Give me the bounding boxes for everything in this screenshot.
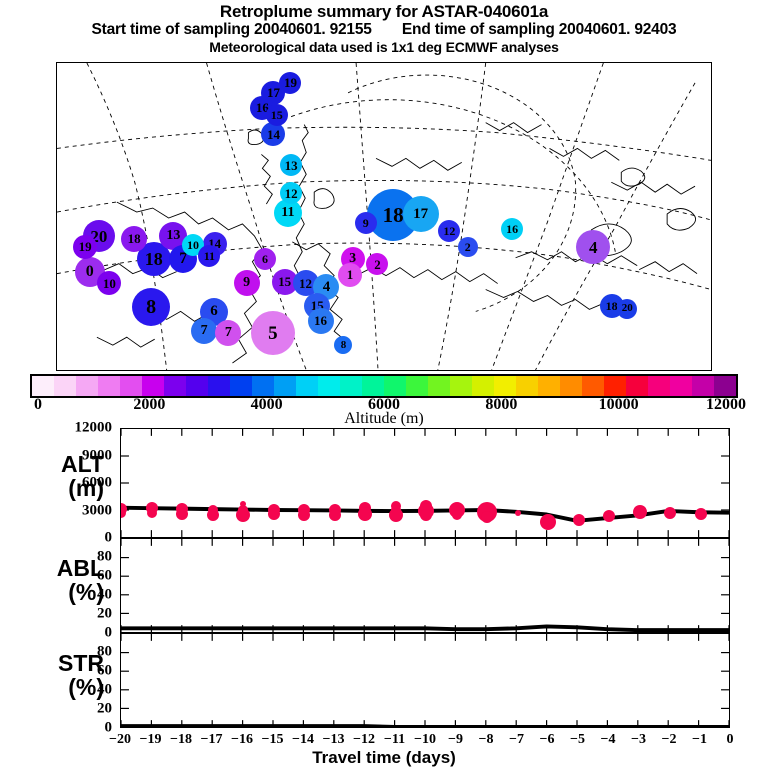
- page-title: Retroplume summary for ASTAR-040601a: [0, 0, 768, 21]
- map-marker-label: 12: [299, 277, 312, 290]
- colorbar-segment: [428, 376, 450, 396]
- x-tick-label: −8: [479, 732, 494, 748]
- map-marker-label: 9: [363, 217, 369, 229]
- map-marker[interactable]: 4: [576, 230, 610, 264]
- scatter-dot: [207, 509, 219, 521]
- map-marker-label: 18: [145, 250, 163, 268]
- map-marker[interactable]: 17: [403, 196, 439, 232]
- map-marker[interactable]: 8: [334, 336, 352, 354]
- colorbar-segment: [54, 376, 76, 396]
- colorbar-segment: [230, 376, 252, 396]
- map-marker-label: 18: [383, 205, 404, 226]
- map-marker-label: 16: [506, 223, 518, 235]
- map-marker[interactable]: 10: [97, 271, 121, 295]
- map-marker-label: 19: [284, 76, 297, 89]
- map-marker[interactable]: 16: [308, 308, 334, 334]
- colorbar-segment: [362, 376, 384, 396]
- map-marker-label: 4: [589, 239, 598, 256]
- x-tick-label: −1: [692, 732, 707, 748]
- start-time-label: Start time of sampling 20040601. 92155: [92, 21, 372, 38]
- colorbar-segment: [296, 376, 318, 396]
- x-tick-label: −4: [601, 732, 616, 748]
- scatter-dot: [389, 508, 403, 522]
- scatter-dot: [420, 509, 432, 521]
- y-tick-label: 20: [97, 701, 112, 718]
- map-marker-label: 2: [374, 258, 381, 271]
- map-marker-label: 8: [146, 297, 156, 317]
- sampling-time-line: Start time of sampling 20040601. 92155 E…: [0, 21, 768, 39]
- map-marker-label: 7: [201, 324, 208, 338]
- met-data-note: Meteorological data used is 1x1 deg ECMW…: [0, 39, 768, 56]
- colorbar-segment: [648, 376, 670, 396]
- colorbar-segment: [626, 376, 648, 396]
- colorbar-segment: [516, 376, 538, 396]
- map-marker-label: 15: [271, 109, 283, 121]
- scatter-dot: [358, 507, 372, 521]
- scatter-dot: [236, 508, 250, 522]
- series-polyline: [121, 726, 729, 727]
- x-tick-label: −15: [262, 732, 284, 748]
- colorbar-segment: [472, 376, 494, 396]
- x-tick-label: −2: [662, 732, 677, 748]
- ytick-labels-alt: 030006000900012000: [0, 428, 116, 538]
- colorbar-segment: [186, 376, 208, 396]
- y-tick-label: 60: [97, 663, 112, 680]
- map-marker[interactable]: 12: [280, 182, 302, 204]
- panel-altitude[interactable]: [120, 428, 730, 538]
- timeseries-stack: ALT (m) ABL (%) STR (%) 0300060009000120…: [0, 428, 768, 728]
- y-tick-label: 6000: [82, 475, 112, 492]
- x-tick-label: −6: [540, 732, 555, 748]
- colorbar-segment: [164, 376, 186, 396]
- x-tick-label: −16: [231, 732, 253, 748]
- map-marker[interactable]: 19: [279, 72, 301, 94]
- colorbar-segment: [538, 376, 560, 396]
- x-tick-label: −19: [140, 732, 162, 748]
- map-marker[interactable]: 15: [266, 104, 288, 126]
- map-marker[interactable]: 14: [261, 122, 285, 146]
- map-marker-label: 19: [79, 240, 92, 253]
- x-tick-label: −9: [448, 732, 463, 748]
- map-marker[interactable]: 5: [251, 311, 295, 355]
- map-marker-label: 20: [622, 303, 633, 314]
- y-tick-label: 80: [97, 644, 112, 661]
- scatter-dot: [268, 508, 280, 520]
- map-marker-label: 17: [413, 207, 428, 222]
- scatter-dot: [298, 509, 310, 521]
- scatter-dot: [147, 508, 157, 518]
- map-marker-label: 1: [347, 268, 354, 281]
- x-tick-label: −14: [292, 732, 314, 748]
- map-marker-label: 4: [323, 280, 331, 295]
- y-tick-label: 20: [97, 606, 112, 623]
- scatter-dot: [603, 510, 615, 522]
- colorbar-segment: [76, 376, 98, 396]
- map-marker-label: 0: [86, 264, 94, 280]
- map-marker[interactable]: 2: [366, 253, 388, 275]
- colorbar-segment: [32, 376, 54, 396]
- map-marker-label: 6: [210, 304, 218, 319]
- colorbar-segment: [670, 376, 692, 396]
- scatter-dot: [540, 514, 556, 530]
- x-tick-label: −13: [323, 732, 345, 748]
- scatter-dot: [329, 509, 341, 521]
- map-marker-label: 16: [314, 314, 327, 327]
- x-tick-label: −11: [384, 732, 405, 748]
- map-marker[interactable]: 9: [355, 212, 377, 234]
- map-marker[interactable]: 9: [234, 270, 260, 296]
- map-marker-label: 12: [443, 225, 455, 237]
- altitude-colorbar[interactable]: [30, 374, 738, 398]
- colorbar-segment: [142, 376, 164, 396]
- map-marker[interactable]: 6: [254, 248, 276, 270]
- map-marker[interactable]: 8: [132, 288, 170, 326]
- colorbar-segment: [340, 376, 362, 396]
- map-marker[interactable]: 7: [191, 318, 217, 344]
- colorbar-segment: [274, 376, 296, 396]
- xaxis-title: Travel time (days): [0, 748, 768, 768]
- scatter-dot: [695, 508, 707, 520]
- map-marker[interactable]: 19: [73, 235, 97, 259]
- map-marker-label: 7: [225, 326, 232, 340]
- str-line: [121, 634, 729, 727]
- map-marker-label: 8: [341, 340, 347, 351]
- colorbar-title: Altitude (m): [0, 410, 768, 428]
- map-marker-label: 5: [268, 324, 278, 343]
- colorbar-segment: [318, 376, 340, 396]
- y-tick-label: 3000: [82, 502, 112, 519]
- x-tick-label: 0: [727, 732, 734, 748]
- colorbar-segment: [406, 376, 428, 396]
- x-tick-label: −7: [509, 732, 524, 748]
- colorbar-segment: [252, 376, 274, 396]
- map-marker-label: 11: [204, 250, 215, 262]
- map-marker-label: 10: [187, 239, 199, 251]
- abl-line: [121, 539, 729, 632]
- scatter-dot: [481, 511, 493, 523]
- map-marker[interactable]: 1: [338, 263, 362, 287]
- map-marker-label: 15: [278, 275, 291, 288]
- map-marker-label: 6: [262, 253, 268, 265]
- map-marker-label: 12: [285, 187, 298, 200]
- scatter-dot: [664, 507, 676, 519]
- map-marker-label: 18: [128, 232, 141, 245]
- map-marker[interactable]: 7: [215, 320, 241, 346]
- xaxis-tick-labels: −20−19−18−17−16−15−14−13−12−11−10−9−8−7−…: [0, 732, 768, 748]
- colorbar-segment: [450, 376, 472, 396]
- x-tick-label: −18: [170, 732, 192, 748]
- x-tick-label: −10: [414, 732, 436, 748]
- colorbar-segment: [494, 376, 516, 396]
- x-tick-label: −20: [109, 732, 131, 748]
- colorbar-segment: [384, 376, 406, 396]
- scatter-dot: [633, 505, 647, 519]
- x-tick-label: −12: [353, 732, 375, 748]
- y-tick-label: 60: [97, 568, 112, 585]
- panel-str[interactable]: [120, 633, 730, 728]
- x-tick-label: −17: [201, 732, 223, 748]
- ytick-labels-str: 020406080100: [0, 633, 116, 728]
- x-tick-label: −3: [631, 732, 646, 748]
- y-tick-label: 80: [97, 549, 112, 566]
- trajectory-markers: 1917161514131211181716201918131014111870…: [57, 63, 711, 370]
- x-tick-label: −5: [570, 732, 585, 748]
- scatter-dot: [573, 514, 585, 526]
- map-marker[interactable]: 20: [617, 299, 637, 319]
- ytick-labels-abl: 020406080100: [0, 538, 116, 633]
- y-tick-label: 40: [97, 682, 112, 699]
- colorbar-segment: [560, 376, 582, 396]
- map-marker-label: 13: [166, 229, 180, 243]
- scatter-dot: [452, 510, 462, 520]
- colorbar-segment: [120, 376, 142, 396]
- map-marker-label: 2: [465, 241, 471, 253]
- map-marker-label: 10: [103, 277, 116, 290]
- y-tick-label: 12000: [75, 420, 113, 437]
- y-tick-label: 40: [97, 587, 112, 604]
- map-marker[interactable]: 12: [438, 220, 460, 242]
- colorbar-segment: [714, 376, 736, 396]
- map-marker[interactable]: 13: [280, 154, 302, 176]
- colorbar-segment: [98, 376, 120, 396]
- end-time-label: End time of sampling 20040601. 92403: [402, 21, 677, 38]
- panel-abl[interactable]: [120, 538, 730, 633]
- map-marker-label: 9: [243, 276, 250, 290]
- map-marker[interactable]: 2: [458, 237, 478, 257]
- map-marker-label: 14: [267, 128, 280, 141]
- colorbar-segment: [692, 376, 714, 396]
- colorbar-segment: [208, 376, 230, 396]
- alt-median-line: [121, 429, 729, 537]
- map-marker-label: 13: [285, 159, 298, 172]
- colorbar-segment: [604, 376, 626, 396]
- figure-titles: Retroplume summary for ASTAR-040601a Sta…: [0, 0, 768, 56]
- scatter-dot: [515, 510, 521, 516]
- map-marker[interactable]: 16: [501, 218, 523, 240]
- colorbar-segment: [582, 376, 604, 396]
- map-marker[interactable]: 18: [121, 226, 147, 252]
- retroplume-map[interactable]: 1917161514131211181716201918131014111870…: [56, 62, 712, 371]
- map-marker-label: 11: [281, 206, 294, 220]
- map-marker-label: 18: [606, 300, 618, 312]
- scatter-dot: [176, 508, 188, 520]
- map-marker[interactable]: 11: [198, 245, 220, 267]
- y-tick-label: 9000: [82, 447, 112, 464]
